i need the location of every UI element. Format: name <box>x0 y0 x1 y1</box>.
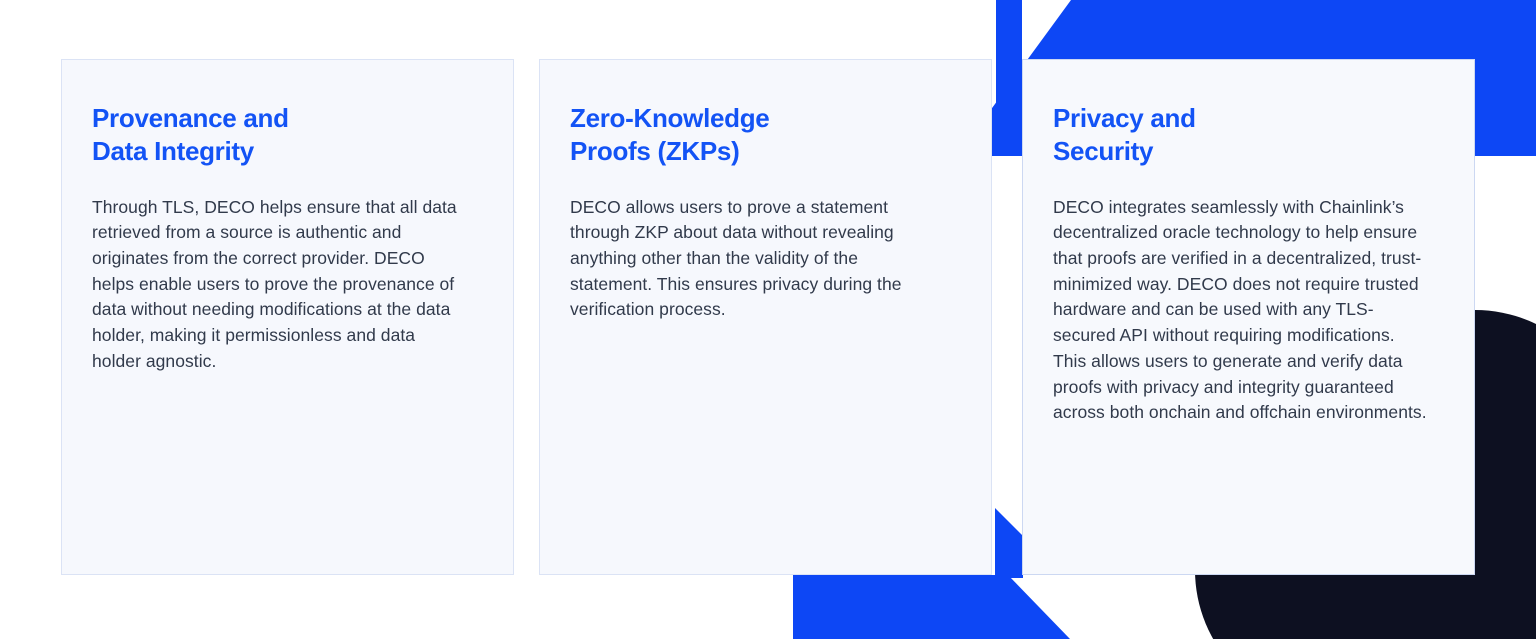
card-body-text: DECO allows users to prove a statement t… <box>570 195 945 324</box>
infographic-canvas: Provenance and Data Integrity Through TL… <box>0 0 1536 639</box>
feature-card-privacy-and-security: Privacy and Security DECO integrates sea… <box>1022 59 1475 575</box>
card-body-text: Through TLS, DECO helps ensure that all … <box>92 195 467 375</box>
feature-card-zero-knowledge-proofs: Zero-Knowledge Proofs (ZKPs) DECO allows… <box>539 59 992 575</box>
card-title: Zero-Knowledge Proofs (ZKPs) <box>570 102 945 169</box>
feature-card-list: Provenance and Data Integrity Through TL… <box>0 0 1536 639</box>
card-title: Provenance and Data Integrity <box>92 102 467 169</box>
card-title: Privacy and Security <box>1053 102 1428 169</box>
feature-card-provenance-and-data-integrity: Provenance and Data Integrity Through TL… <box>61 59 514 575</box>
card-body-text: DECO integrates seamlessly with Chainlin… <box>1053 195 1428 426</box>
